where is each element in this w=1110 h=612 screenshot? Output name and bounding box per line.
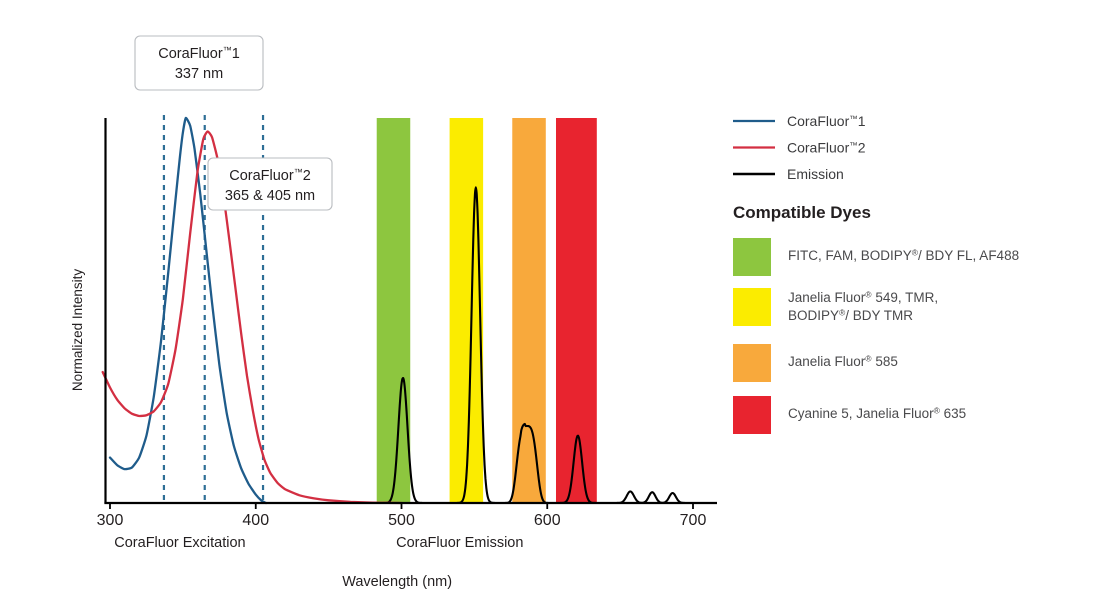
orange-band (512, 118, 546, 503)
compatible-dyes-panel: Compatible DyesFITC, FAM, BODIPY®/ BDY F… (733, 203, 1019, 434)
x-tick-label-500: 500 (388, 512, 415, 529)
yellow-band (450, 118, 484, 503)
x-tick-label-600: 600 (534, 512, 561, 529)
legend-item-1: CoraFluor™1 (733, 113, 866, 129)
dye-item-2: Janelia Fluor® 549, TMR,BODIPY®/ BDY TMR (733, 288, 938, 326)
emission-trace (380, 187, 716, 503)
dye-swatch (733, 238, 771, 276)
dye-swatch (733, 344, 771, 382)
legend-item-2: CoraFluor™2 (733, 140, 866, 156)
dye-item-3: Janelia Fluor® 585 (733, 344, 898, 382)
emission-series (380, 187, 716, 503)
series-legend: CoraFluor™1CoraFluor™2Emission (733, 113, 866, 182)
legend-label: CoraFluor™1 (787, 113, 866, 129)
dye-label-line-1: Janelia Fluor® 585 (788, 354, 898, 370)
corafluor2-callout: CoraFluor™2365 & 405 nm (208, 158, 332, 210)
channel-bands (377, 118, 597, 503)
dye-swatch (733, 288, 771, 326)
dye-swatch (733, 396, 771, 434)
dye-label-line-2: BODIPY®/ BDY TMR (788, 308, 913, 324)
compatible-dyes-title: Compatible Dyes (733, 203, 871, 222)
spectra-chart: 300400500600700Normalized IntensityCoraF… (0, 0, 1110, 612)
spectra-figure: 300400500600700Normalized IntensityCoraF… (0, 0, 1110, 612)
dye-label-line-1: Janelia Fluor® 549, TMR, (788, 290, 938, 306)
x-axis-label: Wavelength (nm) (342, 574, 452, 590)
x-tick-label-300: 300 (97, 512, 124, 529)
dye-item-4: Cyanine 5, Janelia Fluor® 635 (733, 396, 966, 434)
legend-label: CoraFluor™2 (787, 140, 866, 156)
x-tick-label-400: 400 (242, 512, 269, 529)
callout-line-2: 337 nm (175, 66, 223, 82)
dye-item-1: FITC, FAM, BODIPY®/ BDY FL, AF488 (733, 238, 1019, 276)
legend-label: Emission (787, 166, 844, 182)
y-axis-label: Normalized Intensity (70, 269, 85, 392)
corafluor1-callout: CoraFluor™1337 nm (135, 36, 263, 90)
callout-line-2: 365 & 405 nm (225, 188, 315, 204)
legend-item-3: Emission (733, 166, 844, 182)
x-tick-label-700: 700 (680, 512, 707, 529)
callouts: CoraFluor™1337 nmCoraFluor™2365 & 405 nm (135, 36, 332, 210)
dye-label-line-1: FITC, FAM, BODIPY®/ BDY FL, AF488 (788, 248, 1019, 264)
x-axis-sublabel-1: CoraFluor Excitation (114, 535, 245, 551)
green-band (377, 118, 411, 503)
x-axis-sublabel-2: CoraFluor Emission (396, 535, 523, 551)
dye-label-line-1: Cyanine 5, Janelia Fluor® 635 (788, 406, 966, 422)
